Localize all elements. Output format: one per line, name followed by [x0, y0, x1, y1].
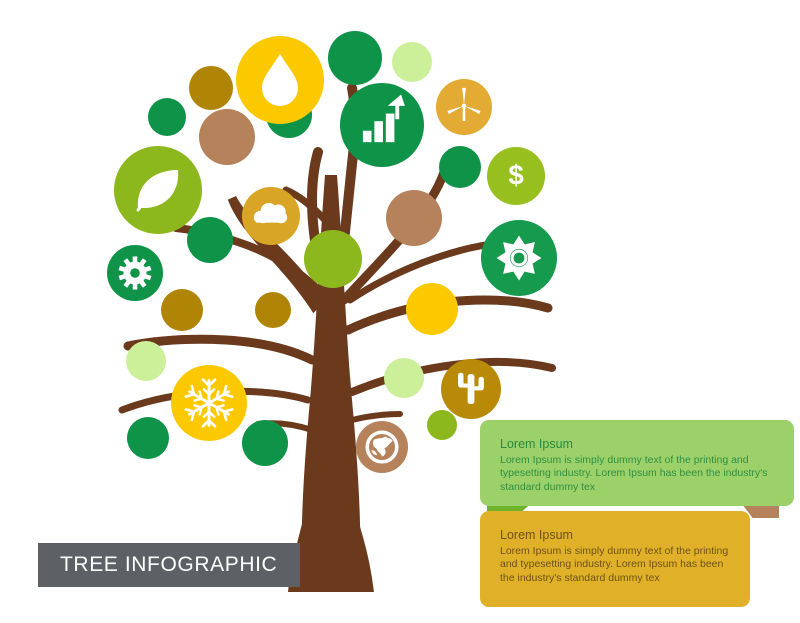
sun-icon: [497, 236, 542, 281]
cloud-icon-circle[interactable]: [242, 187, 300, 245]
callout-green-heading: Lorem Ipsum: [500, 437, 774, 452]
callout-yellow-body: Lorem Ipsum is simply dummy text of the …: [500, 545, 730, 585]
snowflake-icon-circle[interactable]: [171, 365, 247, 441]
decorative-circle: [127, 417, 169, 459]
decorative-circle: [199, 109, 255, 165]
dollar-sign-icon: $: [508, 160, 523, 191]
decorative-circle: [439, 146, 481, 188]
decorative-circle: [392, 42, 432, 82]
callout-green[interactable]: Lorem Ipsum Lorem Ipsum is simply dummy …: [480, 420, 794, 506]
decorative-circle: [126, 341, 166, 381]
bar-chart-growth-icon-circle[interactable]: [340, 83, 424, 167]
decorative-circle: [148, 98, 186, 136]
decorative-circle: [255, 292, 291, 328]
svg-text:$: $: [508, 160, 523, 191]
title-ribbon: TREE INFOGRAPHIC: [38, 543, 300, 587]
page-title: TREE INFOGRAPHIC: [38, 553, 277, 577]
decorative-circle: [384, 358, 424, 398]
sun-icon-circle[interactable]: [481, 220, 557, 296]
decorative-circle: [187, 217, 233, 263]
wind-turbine-icon-circle[interactable]: [436, 79, 492, 135]
globe-icon-circle[interactable]: [356, 421, 408, 473]
leaf-icon-circle[interactable]: [114, 146, 202, 234]
dollar-sign-icon-circle[interactable]: $: [487, 147, 545, 205]
decorative-circle: [406, 283, 458, 335]
water-drop-icon-circle[interactable]: [236, 36, 324, 124]
decorative-circle: [242, 420, 288, 466]
decorative-circle: [427, 410, 457, 440]
callout-yellow-heading: Lorem Ipsum: [500, 528, 730, 543]
decorative-circle: [386, 190, 442, 246]
infographic-canvas: $ TREE INFOGRAPHIC Lorem Ipsum Lorem Ips…: [0, 0, 800, 623]
callout-yellow[interactable]: Lorem Ipsum Lorem Ipsum is simply dummy …: [480, 511, 750, 607]
decorative-circle: [189, 66, 233, 110]
gear-icon-circle[interactable]: [107, 245, 163, 301]
decorative-circle: [161, 289, 203, 331]
decorative-circle: [328, 31, 382, 85]
callout-green-body: Lorem Ipsum is simply dummy text of the …: [500, 454, 774, 494]
cactus-icon-circle[interactable]: [441, 359, 501, 419]
decorative-circle: [304, 230, 362, 288]
